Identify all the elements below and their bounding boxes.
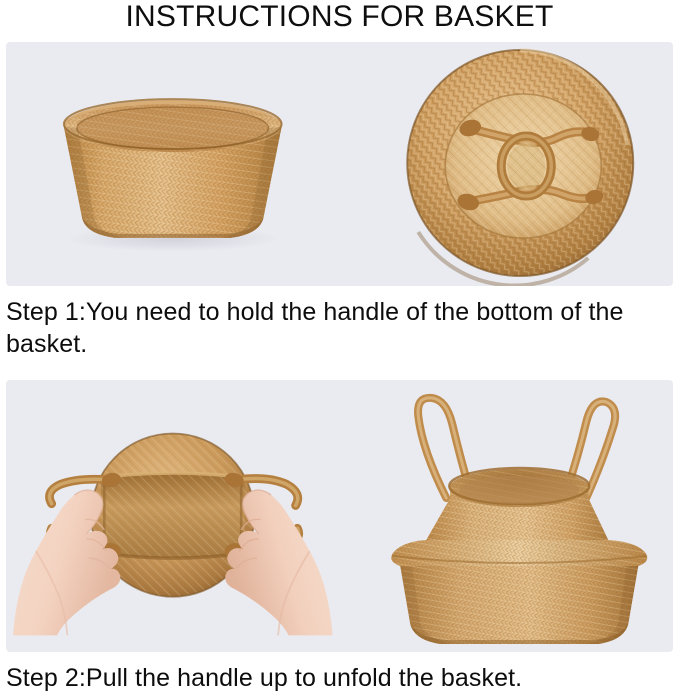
step-2-instruction: Step 2:Pull the handle up to unfold the … — [6, 663, 674, 695]
basket-unfolded-image — [340, 380, 674, 652]
basket-unfolded-icon — [340, 380, 674, 652]
basket-folded-side-image — [6, 42, 340, 286]
step-1-instruction: Step 1:You need to hold the handle of th… — [6, 297, 674, 360]
hands-basket-icon — [6, 380, 340, 652]
step-1-image-panel — [6, 42, 673, 286]
page-title: INSTRUCTIONS FOR BASKET — [0, 0, 679, 36]
basket-folded-top-image — [340, 42, 674, 286]
instruction-sheet: INSTRUCTIONS FOR BASKET — [0, 0, 679, 699]
step-2-image-panel — [6, 380, 673, 652]
hands-pulling-handles-image — [6, 380, 340, 652]
basket-side-icon — [6, 42, 340, 286]
basket-top-icon — [340, 42, 674, 286]
